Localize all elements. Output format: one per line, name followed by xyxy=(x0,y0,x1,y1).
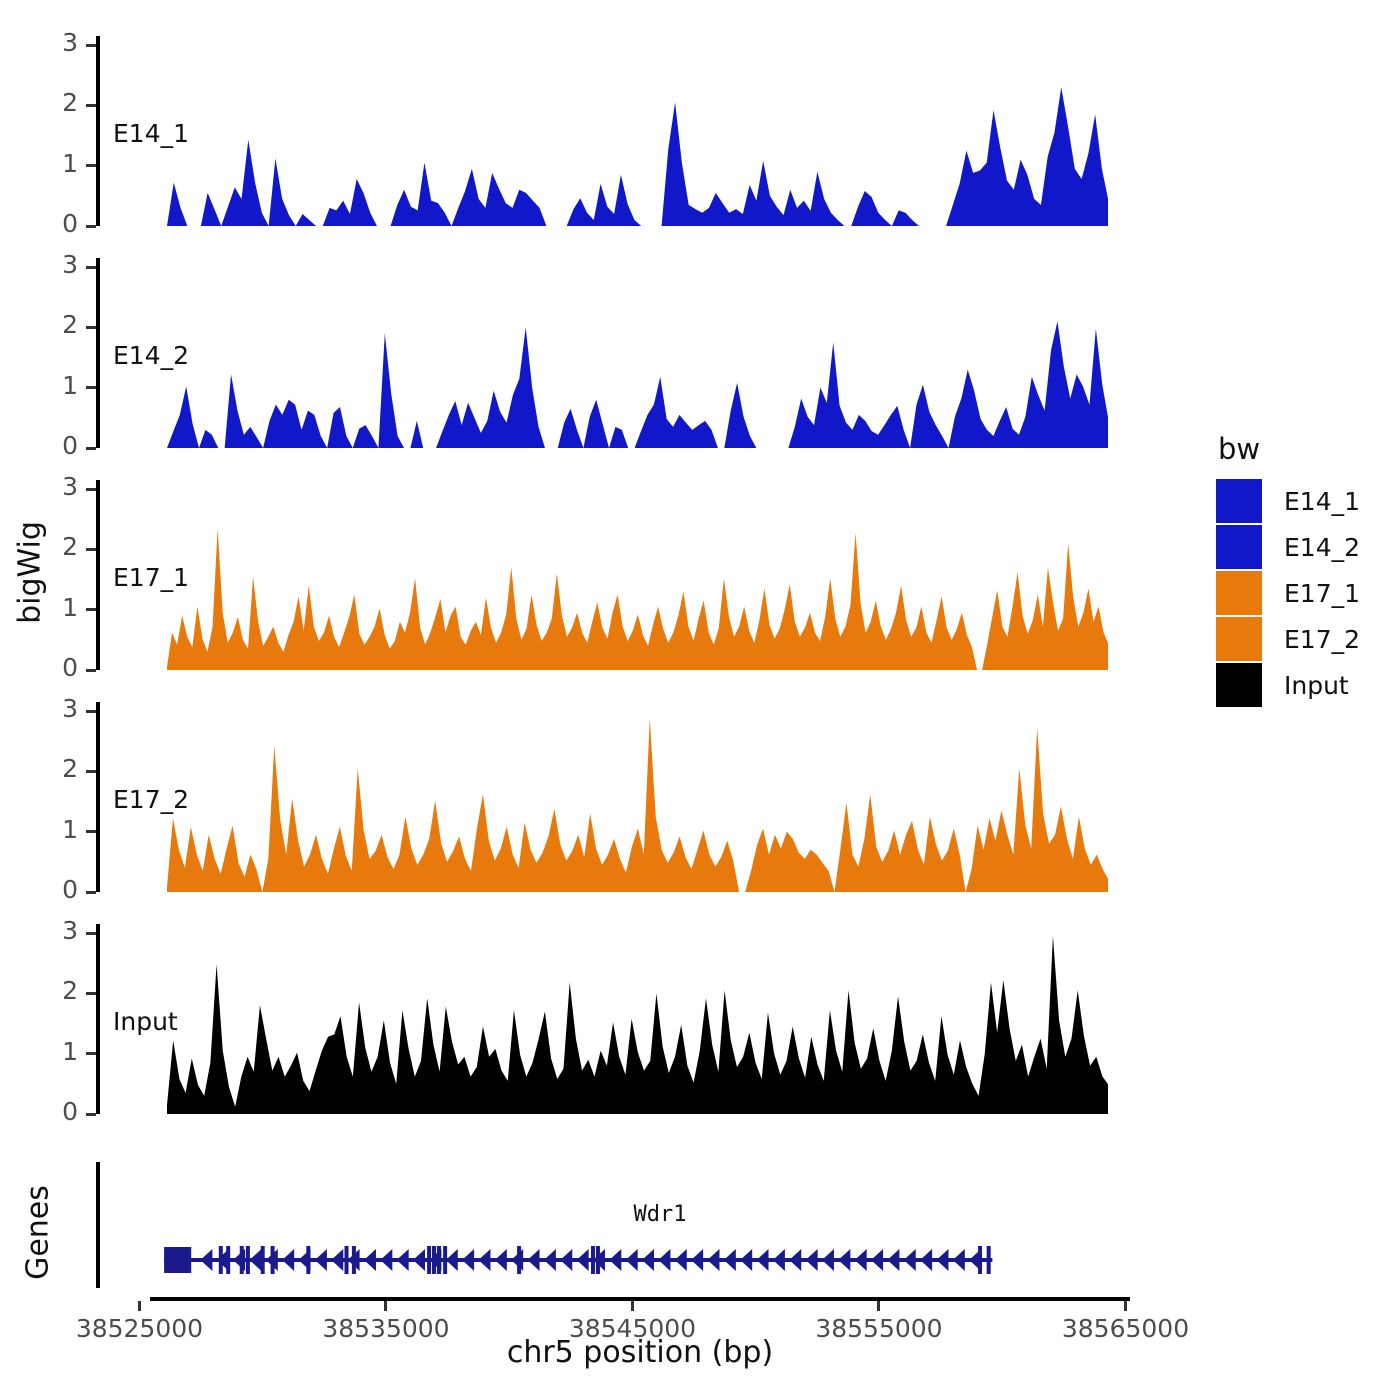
y-tick-mark xyxy=(86,266,96,269)
y-tick-label: 2 xyxy=(0,310,78,339)
y-tick-mark xyxy=(86,104,96,107)
x-tick-mark xyxy=(1124,1301,1127,1311)
y-tick-mark xyxy=(86,164,96,167)
legend-swatch-e14_2 xyxy=(1216,525,1262,569)
y-tick-label: 2 xyxy=(0,532,78,561)
y-axis-line-e17_1 xyxy=(96,480,100,670)
gene-name-label: Wdr1 xyxy=(560,1202,760,1227)
y-tick-label: 1 xyxy=(0,815,78,844)
legend-label: Input xyxy=(1284,671,1349,700)
y-tick-mark xyxy=(86,891,96,894)
y-tick-mark xyxy=(86,932,96,935)
y-axis-line-e14_1 xyxy=(96,36,100,226)
figure-root: bigWig Genes 0123E14_1 0123E14_2 0123E17… xyxy=(0,0,1400,1400)
y-tick-label: 0 xyxy=(0,209,78,238)
legend: bw E14_1 E14_2 E17_1 E17_2 Input xyxy=(1216,432,1360,708)
x-tick-mark xyxy=(631,1301,634,1311)
track-label-input: Input xyxy=(113,1007,178,1036)
y-axis-title-genes: Genes xyxy=(21,1173,56,1293)
y-tick-label: 3 xyxy=(0,694,78,723)
track-panel-e14_2 xyxy=(167,258,1109,448)
track-label-e17_1: E17_1 xyxy=(113,563,189,592)
y-tick-mark xyxy=(86,992,96,995)
y-axis-line-input xyxy=(96,924,100,1114)
track-panel-e17_2 xyxy=(167,702,1109,892)
y-tick-label: 3 xyxy=(0,472,78,501)
y-tick-label: 3 xyxy=(0,250,78,279)
signal-area-e17_2 xyxy=(167,718,1109,892)
y-tick-mark xyxy=(86,488,96,491)
y-tick-label: 2 xyxy=(0,88,78,117)
legend-swatch-e17_2 xyxy=(1216,617,1262,661)
y-tick-label: 0 xyxy=(0,875,78,904)
legend-item-e17_2[interactable]: E17_2 xyxy=(1216,616,1360,662)
y-axis-line-e14_2 xyxy=(96,258,100,448)
y-tick-label: 2 xyxy=(0,976,78,1005)
signal-area-e17_1 xyxy=(167,528,1109,670)
x-tick-label: 38525000 xyxy=(19,1314,259,1343)
y-tick-mark xyxy=(86,608,96,611)
y-tick-label: 1 xyxy=(0,1037,78,1066)
x-tick-mark xyxy=(384,1301,387,1311)
legend-item-e14_2[interactable]: E14_2 xyxy=(1216,524,1360,570)
y-tick-mark xyxy=(86,770,96,773)
y-tick-mark xyxy=(86,669,96,672)
y-tick-mark xyxy=(86,830,96,833)
legend-swatch-e14_1 xyxy=(1216,479,1262,523)
track-label-e17_2: E17_2 xyxy=(113,785,189,814)
signal-area-e14_1 xyxy=(167,87,1109,226)
y-tick-label: 0 xyxy=(0,653,78,682)
y-tick-mark xyxy=(86,225,96,228)
y-tick-mark xyxy=(86,548,96,551)
y-tick-mark xyxy=(86,1113,96,1116)
y-tick-mark xyxy=(86,386,96,389)
legend-item-e17_1[interactable]: E17_1 xyxy=(1216,570,1360,616)
y-tick-label: 3 xyxy=(0,28,78,57)
legend-label: E17_1 xyxy=(1284,579,1360,608)
y-tick-mark xyxy=(86,710,96,713)
x-tick-mark xyxy=(138,1301,141,1311)
x-axis-title: chr5 position (bp) xyxy=(340,1335,940,1370)
y-tick-label: 1 xyxy=(0,593,78,622)
y-axis-line-e17_2 xyxy=(96,702,100,892)
track-label-e14_2: E14_2 xyxy=(113,341,189,370)
gene-panel-axis xyxy=(96,1162,100,1288)
legend-label: E17_2 xyxy=(1284,625,1360,654)
x-axis-line xyxy=(150,1297,1130,1301)
y-tick-mark xyxy=(86,447,96,450)
legend-items: E14_1 E14_2 E17_1 E17_2 Input xyxy=(1216,478,1360,708)
y-tick-label: 0 xyxy=(0,1097,78,1126)
y-tick-label: 0 xyxy=(0,431,78,460)
track-panel-e17_1 xyxy=(167,480,1109,670)
legend-label: E14_2 xyxy=(1284,533,1360,562)
signal-area-e14_2 xyxy=(167,321,1109,448)
track-panel-e14_1 xyxy=(167,36,1109,226)
legend-title: bw xyxy=(1218,432,1360,466)
legend-swatch-e17_1 xyxy=(1216,571,1262,615)
track-label-e14_1: E14_1 xyxy=(113,119,189,148)
legend-item-input[interactable]: Input xyxy=(1216,662,1360,708)
track-panel-input xyxy=(167,924,1109,1114)
x-tick-label: 38565000 xyxy=(1005,1314,1245,1343)
legend-item-e14_1[interactable]: E14_1 xyxy=(1216,478,1360,524)
x-tick-mark xyxy=(877,1301,880,1311)
y-tick-mark xyxy=(86,1052,96,1055)
y-tick-mark xyxy=(86,44,96,47)
legend-swatch-input xyxy=(1216,663,1262,707)
legend-label: E14_1 xyxy=(1284,487,1360,516)
y-tick-label: 1 xyxy=(0,149,78,178)
signal-area-input xyxy=(167,936,1109,1114)
y-tick-mark xyxy=(86,326,96,329)
y-tick-label: 2 xyxy=(0,754,78,783)
y-tick-label: 1 xyxy=(0,371,78,400)
y-tick-label: 3 xyxy=(0,916,78,945)
